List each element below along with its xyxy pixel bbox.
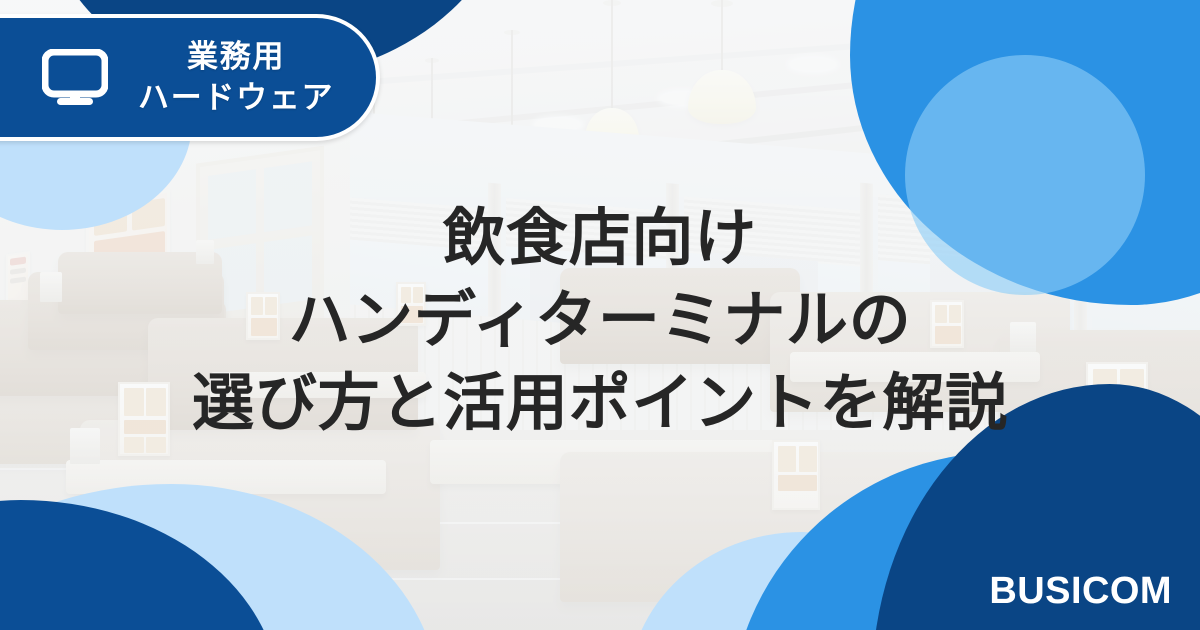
page-title-line1: 飲食店向け [0,198,1200,280]
category-badge-line2: ハードウェア [138,78,334,118]
page-title: 飲食店向け ハンディターミナルの 選び方と活用ポイントを解説 [0,198,1200,445]
category-badge-line1: 業務用 [187,37,285,77]
page-title-line2: ハンディターミナルの [0,280,1200,362]
category-badge-text: 業務用 ハードウェア [138,37,334,117]
category-badge: 業務用 ハードウェア [0,14,380,141]
brand-logo: BUSICOM [989,572,1172,610]
page-title-line3: 選び方と活用ポイントを解説 [0,363,1200,445]
desktop-monitor-icon [42,49,108,107]
ogp-card: 業務用 ハードウェア 飲食店向け ハンディターミナルの 選び方と活用ポイントを解… [0,0,1200,630]
